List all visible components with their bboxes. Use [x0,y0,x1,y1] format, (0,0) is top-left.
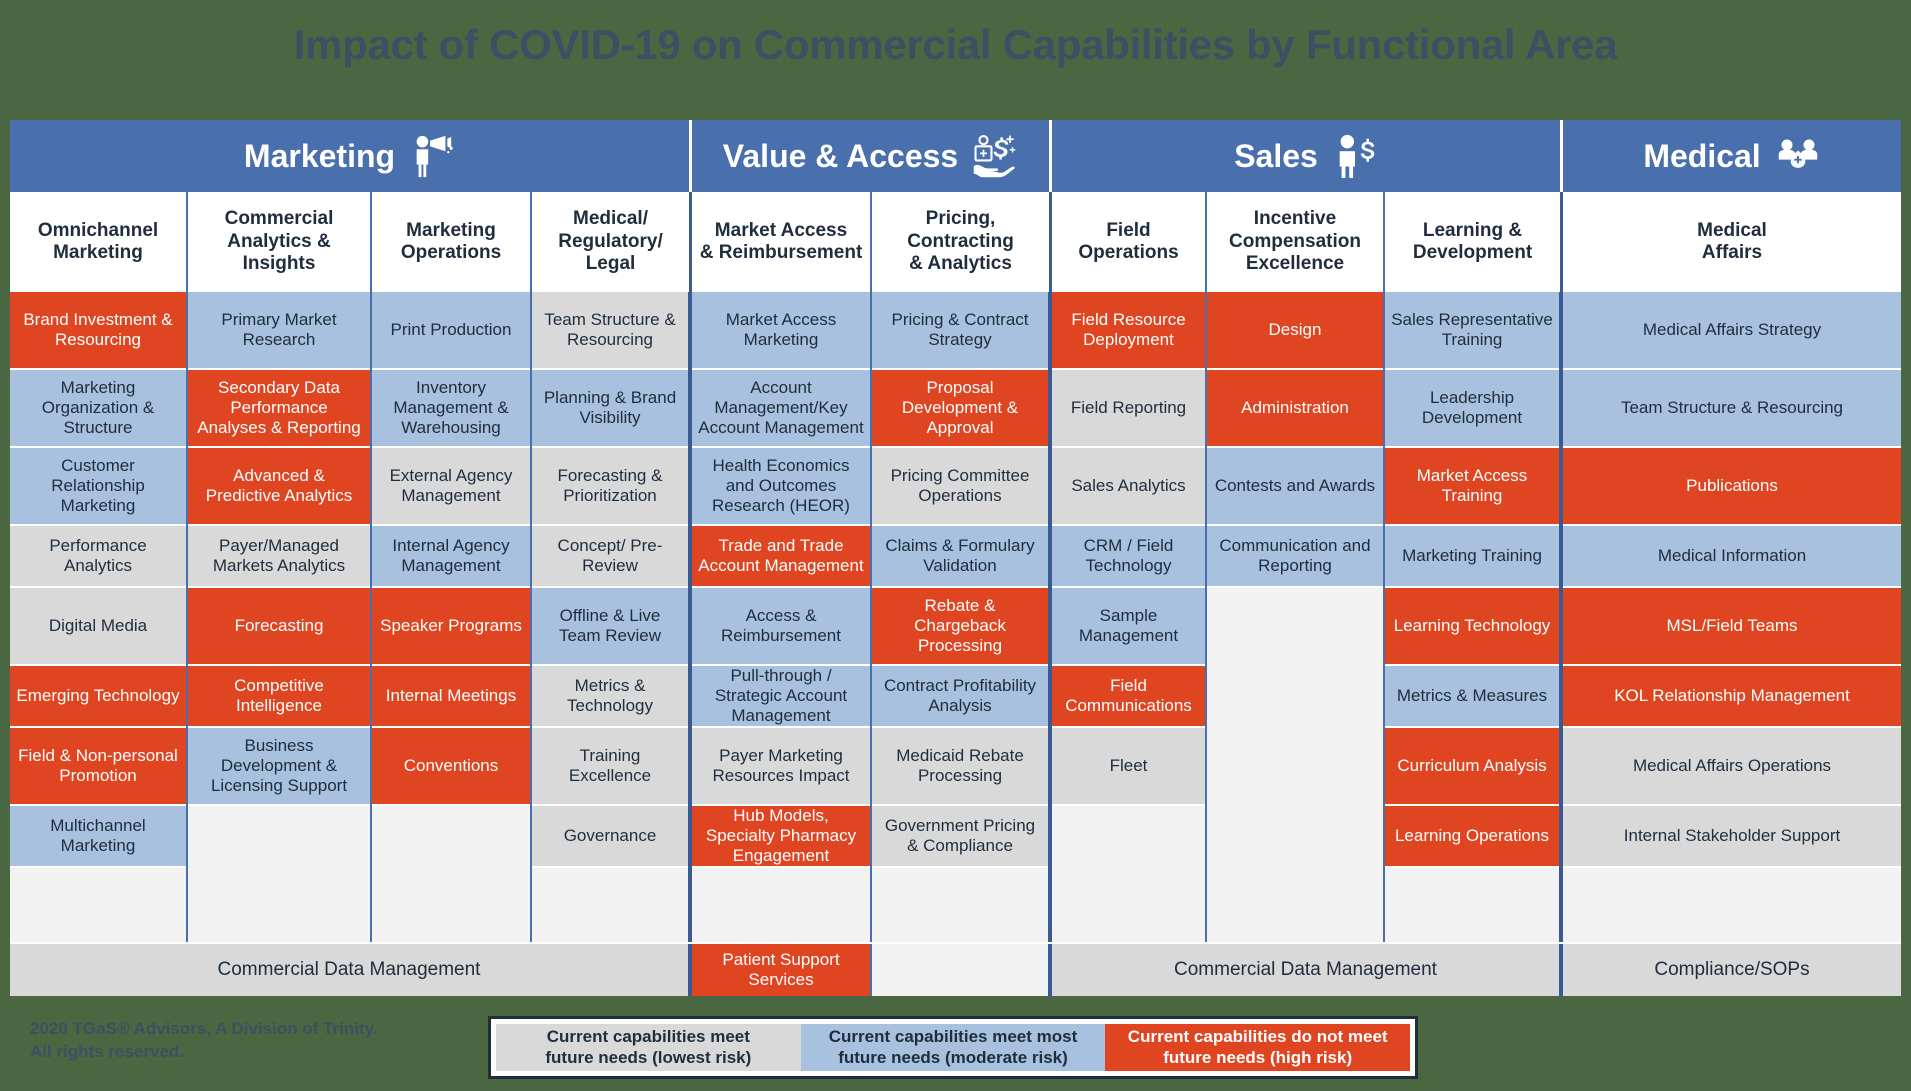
capability-cell[interactable]: Offline & Live Team Review [532,588,688,666]
band-header-sales: Sales [1052,120,1563,192]
capability-cell[interactable]: Medical Affairs Operations [1563,728,1901,806]
capability-cell[interactable]: Internal Agency Management [372,526,530,588]
capability-cell[interactable]: KOL Relationship Management [1563,666,1901,728]
capability-cell[interactable]: Primary Market Research [188,292,370,370]
capability-cell[interactable]: Internal Meetings [372,666,530,728]
matrix-footer-row: Commercial Data ManagementPatient Suppor… [10,942,1901,996]
page-title: Impact of COVID-19 on Commercial Capabil… [0,14,1911,76]
band-header-marketing: Marketing [10,120,692,192]
capability-cell[interactable]: Market Access Training [1385,448,1559,526]
band-header-label: Sales [1234,138,1318,175]
column-header-commercial-analytics-insights: Commercial Analytics & Insights [188,192,372,292]
footer-capability-cell[interactable]: Compliance/SOPs [1563,944,1901,996]
capability-cell[interactable]: Concept/ Pre-Review [532,526,688,588]
column-header-learning-development: Learning & Development [1385,192,1563,292]
capability-cell[interactable]: Multichannel Marketing [10,806,186,868]
column-header-omnichannel-marketing: Omnichannel Marketing [10,192,188,292]
footer-capability-cell[interactable]: Commercial Data Management [10,944,692,996]
capability-cell[interactable]: Design [1207,292,1383,370]
capability-cell[interactable]: Planning & Brand Visibility [532,370,688,448]
capability-cell[interactable]: Publications [1563,448,1901,526]
capability-cell[interactable]: Learning Technology [1385,588,1559,666]
matrix-column: Field Resource DeploymentField Reporting… [1052,292,1207,942]
capability-cell[interactable]: Trade and Trade Account Management [692,526,870,588]
capability-cell[interactable]: Communication and Reporting [1207,526,1383,588]
risk-legend: Current capabilities meet future needs (… [488,1016,1418,1079]
capability-cell[interactable]: Business Development & Licensing Support [188,728,370,806]
empty-cell [1207,806,1383,868]
capability-cell[interactable]: Sales Representative Training [1385,292,1559,370]
capability-cell[interactable]: Conventions [372,728,530,806]
slide-root: Impact of COVID-19 on Commercial Capabil… [0,0,1911,1091]
legend-item-high-risk: Current capabilities do not meet future … [1105,1024,1410,1071]
capability-cell[interactable]: Medical Affairs Strategy [1563,292,1901,370]
column-header-pricing-contracting-analytics: Pricing, Contracting & Analytics [872,192,1052,292]
capability-cell[interactable]: Print Production [372,292,530,370]
capability-cell[interactable]: Governance [532,806,688,868]
capability-cell[interactable]: Payer Marketing Resources Impact [692,728,870,806]
capability-cell[interactable]: Forecasting & Prioritization [532,448,688,526]
capability-cell[interactable]: Proposal Development & Approval [872,370,1048,448]
capability-cell[interactable]: Government Pricing & Compliance [872,806,1048,868]
empty-cell [372,806,530,868]
band-header-label: Value & Access [723,138,958,175]
capability-cell[interactable]: Metrics & Technology [532,666,688,728]
medical-team-icon [1775,133,1821,179]
capability-cell[interactable]: Metrics & Measures [1385,666,1559,728]
column-header-market-access-reimbursement: Market Access & Reimbursement [692,192,872,292]
band-header-value-access: Value & Access [692,120,1052,192]
matrix-column: Team Structure & ResourcingPlanning & Br… [532,292,692,942]
column-header-medical-affairs: Medical Affairs [1563,192,1901,292]
capability-cell[interactable]: Team Structure & Resourcing [532,292,688,370]
matrix-body: Brand Investment & ResourcingMarketing O… [10,292,1901,942]
capability-cell[interactable]: Customer Relationship Marketing [10,448,186,526]
person-dollar-icon [1332,133,1378,179]
capability-cell[interactable]: Digital Media [10,588,186,666]
capability-cell[interactable]: Pricing & Contract Strategy [872,292,1048,370]
column-header-marketing-operations: Marketing Operations [372,192,532,292]
empty-cell [188,806,370,868]
capability-cell[interactable]: Competitive Intelligence [188,666,370,728]
capability-cell[interactable]: Forecasting [188,588,370,666]
matrix-column: Sales Representative TrainingLeadership … [1385,292,1563,942]
empty-cell [1207,728,1383,806]
capability-cell[interactable]: Sample Management [1052,588,1205,666]
capability-cell[interactable]: External Agency Management [372,448,530,526]
capability-cell[interactable]: MSL/Field Teams [1563,588,1901,666]
capability-cell[interactable]: Learning Operations [1385,806,1559,868]
capability-cell[interactable]: Brand Investment & Resourcing [10,292,186,370]
capability-cell[interactable]: Curriculum Analysis [1385,728,1559,806]
copyright-notice: 2020 TGaS® Advisors, A Division of Trini… [30,1018,378,1064]
capability-cell[interactable]: Medical Information [1563,526,1901,588]
empty-cell [1207,666,1383,728]
band-header-label: Medical [1643,138,1760,175]
capability-cell[interactable]: Secondary Data Performance Analyses & Re… [188,370,370,448]
capability-cell[interactable]: Contests and Awards [1207,448,1383,526]
capability-cell[interactable]: Field Communications [1052,666,1205,728]
capability-cell[interactable]: Field Resource Deployment [1052,292,1205,370]
capability-cell[interactable]: Contract Profitability Analysis [872,666,1048,728]
capability-cell[interactable]: Medicaid Rebate Processing [872,728,1048,806]
capability-cell[interactable]: Account Management/Key Account Managemen… [692,370,870,448]
capability-cell[interactable]: Rebate & Chargeback Processing [872,588,1048,666]
band-header-row: MarketingValue & AccessSalesMedical [10,120,1901,192]
matrix-column: Print ProductionInventory Management & W… [372,292,532,942]
capability-cell[interactable]: CRM / Field Technology [1052,526,1205,588]
empty-cell [1207,588,1383,666]
footer-capability-cell[interactable]: Commercial Data Management [1052,944,1563,996]
capability-cell[interactable]: Administration [1207,370,1383,448]
legend-item-mod-risk: Current capabilities meet most future ne… [801,1024,1106,1071]
column-header-medical-regulatory-legal: Medical/ Regulatory/ Legal [532,192,692,292]
capability-cell[interactable]: Claims & Formulary Validation [872,526,1048,588]
legend-item-low-risk: Current capabilities meet future needs (… [496,1024,801,1071]
matrix-column: Medical Affairs StrategyTeam Structure &… [1563,292,1901,942]
capability-cell[interactable]: Marketing Organization & Structure [10,370,186,448]
capability-cell[interactable]: Pull-through / Strategic Account Managem… [692,666,870,728]
capability-cell[interactable]: Fleet [1052,728,1205,806]
capability-matrix: MarketingValue & AccessSalesMedical Omni… [8,118,1903,998]
band-header-medical: Medical [1563,120,1901,192]
capability-cell[interactable]: Field Reporting [1052,370,1205,448]
capability-cell[interactable]: Access & Reimbursement [692,588,870,666]
capability-cell[interactable]: Advanced & Predictive Analytics [188,448,370,526]
empty-cell [1052,806,1205,868]
footer-capability-cell[interactable]: Patient Support Services [692,944,872,996]
matrix-column: Brand Investment & ResourcingMarketing O… [10,292,188,942]
matrix-column: DesignAdministrationContests and AwardsC… [1207,292,1385,942]
person-megaphone-icon [409,133,455,179]
capability-cell[interactable]: Leadership Development [1385,370,1559,448]
capability-cell[interactable]: Training Excellence [532,728,688,806]
capability-cell[interactable]: Inventory Management & Warehousing [372,370,530,448]
matrix-column: Market Access MarketingAccount Managemen… [692,292,872,942]
capability-cell[interactable]: Field & Non-personal Promotion [10,728,186,806]
capability-cell[interactable]: Health Economics and Outcomes Research (… [692,448,870,526]
capability-cell[interactable]: Payer/Managed Markets Analytics [188,526,370,588]
hand-health-dollar-icon [972,133,1018,179]
capability-cell[interactable]: Internal Stakeholder Support [1563,806,1901,868]
empty-cell [872,944,1052,996]
capability-cell[interactable]: Marketing Training [1385,526,1559,588]
capability-cell[interactable]: Emerging Technology [10,666,186,728]
capability-cell[interactable]: Performance Analytics [10,526,186,588]
column-header-field-operations: Field Operations [1052,192,1207,292]
matrix-column: Primary Market ResearchSecondary Data Pe… [188,292,372,942]
capability-cell[interactable]: Sales Analytics [1052,448,1205,526]
band-header-label: Marketing [244,138,395,175]
capability-cell[interactable]: Market Access Marketing [692,292,870,370]
column-header-row: Omnichannel MarketingCommercial Analytic… [10,192,1901,292]
column-header-incentive-compensation-excellence: Incentive Compensation Excellence [1207,192,1385,292]
matrix-column: Pricing & Contract StrategyProposal Deve… [872,292,1052,942]
capability-cell[interactable]: Hub Models, Specialty Pharmacy Engagemen… [692,806,870,868]
capability-cell[interactable]: Team Structure & Resourcing [1563,370,1901,448]
capability-cell[interactable]: Pricing Committee Operations [872,448,1048,526]
capability-cell[interactable]: Speaker Programs [372,588,530,666]
